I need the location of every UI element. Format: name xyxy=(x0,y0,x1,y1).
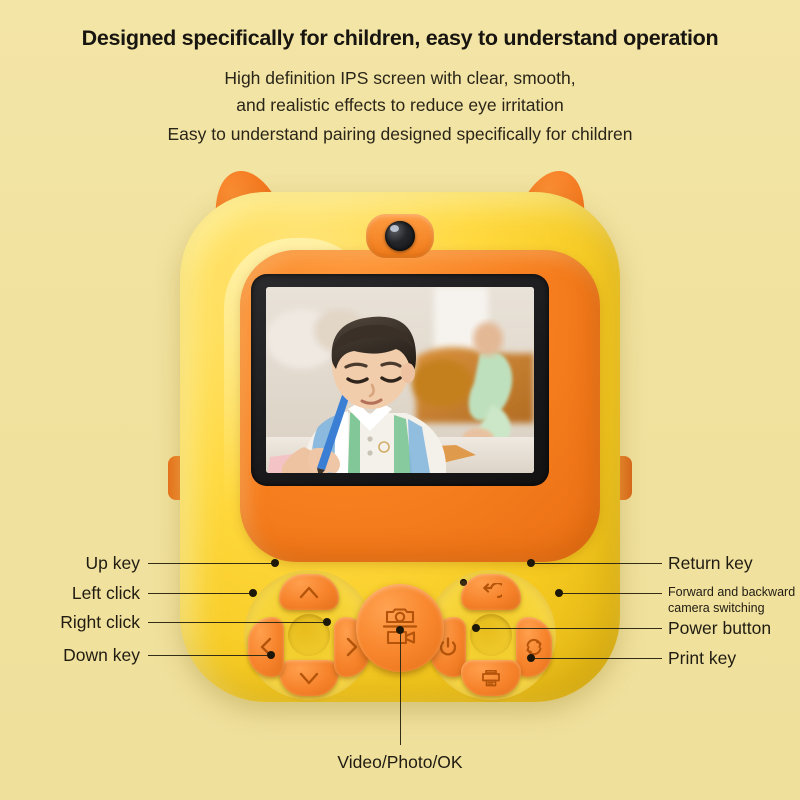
leader-line-up-key xyxy=(148,563,274,564)
label-up-key: Up key xyxy=(30,553,140,573)
leader-line-video-photo-ok xyxy=(400,630,401,745)
subtitle-line-3: Easy to understand pairing designed spec… xyxy=(0,124,800,145)
down-key-button[interactable] xyxy=(279,660,339,696)
label-down-key: Down key xyxy=(20,645,140,665)
label-print-key: Print key xyxy=(668,648,736,668)
leader-line-right-click xyxy=(148,622,326,623)
microphone-indicator xyxy=(460,579,467,586)
label-return-key: Return key xyxy=(668,553,753,573)
label-right-click-text: Right click xyxy=(60,612,140,632)
subtitle-line-2: and realistic effects to reduce eye irri… xyxy=(0,95,800,116)
product-infographic: Designed specifically for children, easy… xyxy=(0,0,800,800)
down-arrow-icon xyxy=(299,671,319,685)
label-left-click: Left click xyxy=(20,583,140,603)
label-video-photo-ok-text: Video/Photo/OK xyxy=(337,752,462,772)
leader-line-print-key xyxy=(530,658,662,659)
leader-dot-up-key xyxy=(271,559,279,567)
leader-line-power-button xyxy=(476,628,662,629)
camera-lens-icon xyxy=(385,221,415,251)
label-power-button: Power button xyxy=(668,618,771,638)
label-right-click: Right click xyxy=(15,612,140,632)
leader-line-down-key xyxy=(148,655,270,656)
leader-dot-left-click xyxy=(249,589,257,597)
camera-switch-button[interactable] xyxy=(516,617,552,677)
subtitle-line-1: High definition IPS screen with clear, s… xyxy=(0,68,800,89)
label-camera-switching: Forward and backward camera switching xyxy=(668,585,795,616)
label-down-key-text: Down key xyxy=(63,645,140,665)
label-video-photo-ok: Video/Photo/OK xyxy=(0,752,800,773)
leader-line-left-click xyxy=(148,593,252,594)
leader-line-camera-switching xyxy=(558,593,662,594)
return-key-button[interactable] xyxy=(461,574,521,610)
leader-dot-return-key xyxy=(527,559,535,567)
label-print-key-text: Print key xyxy=(668,648,736,668)
side-button-right[interactable] xyxy=(618,456,632,500)
leader-dot-camera-switching xyxy=(555,589,563,597)
label-camera-switching-line-2: camera switching xyxy=(668,601,765,615)
up-arrow-icon xyxy=(299,585,319,599)
return-arrow-icon xyxy=(480,583,502,601)
leader-dot-down-key xyxy=(267,651,275,659)
label-return-key-text: Return key xyxy=(668,553,753,573)
screen-photo xyxy=(266,287,534,473)
label-camera-switching-line-1: Forward and backward xyxy=(668,585,795,599)
leader-dot-right-click xyxy=(323,618,331,626)
up-key-button[interactable] xyxy=(279,574,339,610)
leader-line-return-key xyxy=(530,563,662,564)
screen-bezel xyxy=(251,274,549,486)
print-key-button[interactable] xyxy=(461,660,521,696)
camera-switch-icon xyxy=(524,637,544,657)
page-title: Designed specifically for children, easy… xyxy=(0,26,800,51)
lens-housing xyxy=(366,214,434,258)
dpad-cluster xyxy=(244,570,374,700)
label-up-key-text: Up key xyxy=(86,553,140,573)
leader-dot-power-button xyxy=(472,624,480,632)
function-cluster xyxy=(426,570,556,700)
label-left-click-text: Left click xyxy=(72,583,140,603)
leader-dot-print-key xyxy=(527,654,535,662)
printer-icon xyxy=(480,669,502,687)
label-power-button-text: Power button xyxy=(668,618,771,638)
leader-dot-video-photo-ok xyxy=(396,626,404,634)
left-click-button[interactable] xyxy=(248,617,284,677)
camera-screen xyxy=(266,287,534,473)
